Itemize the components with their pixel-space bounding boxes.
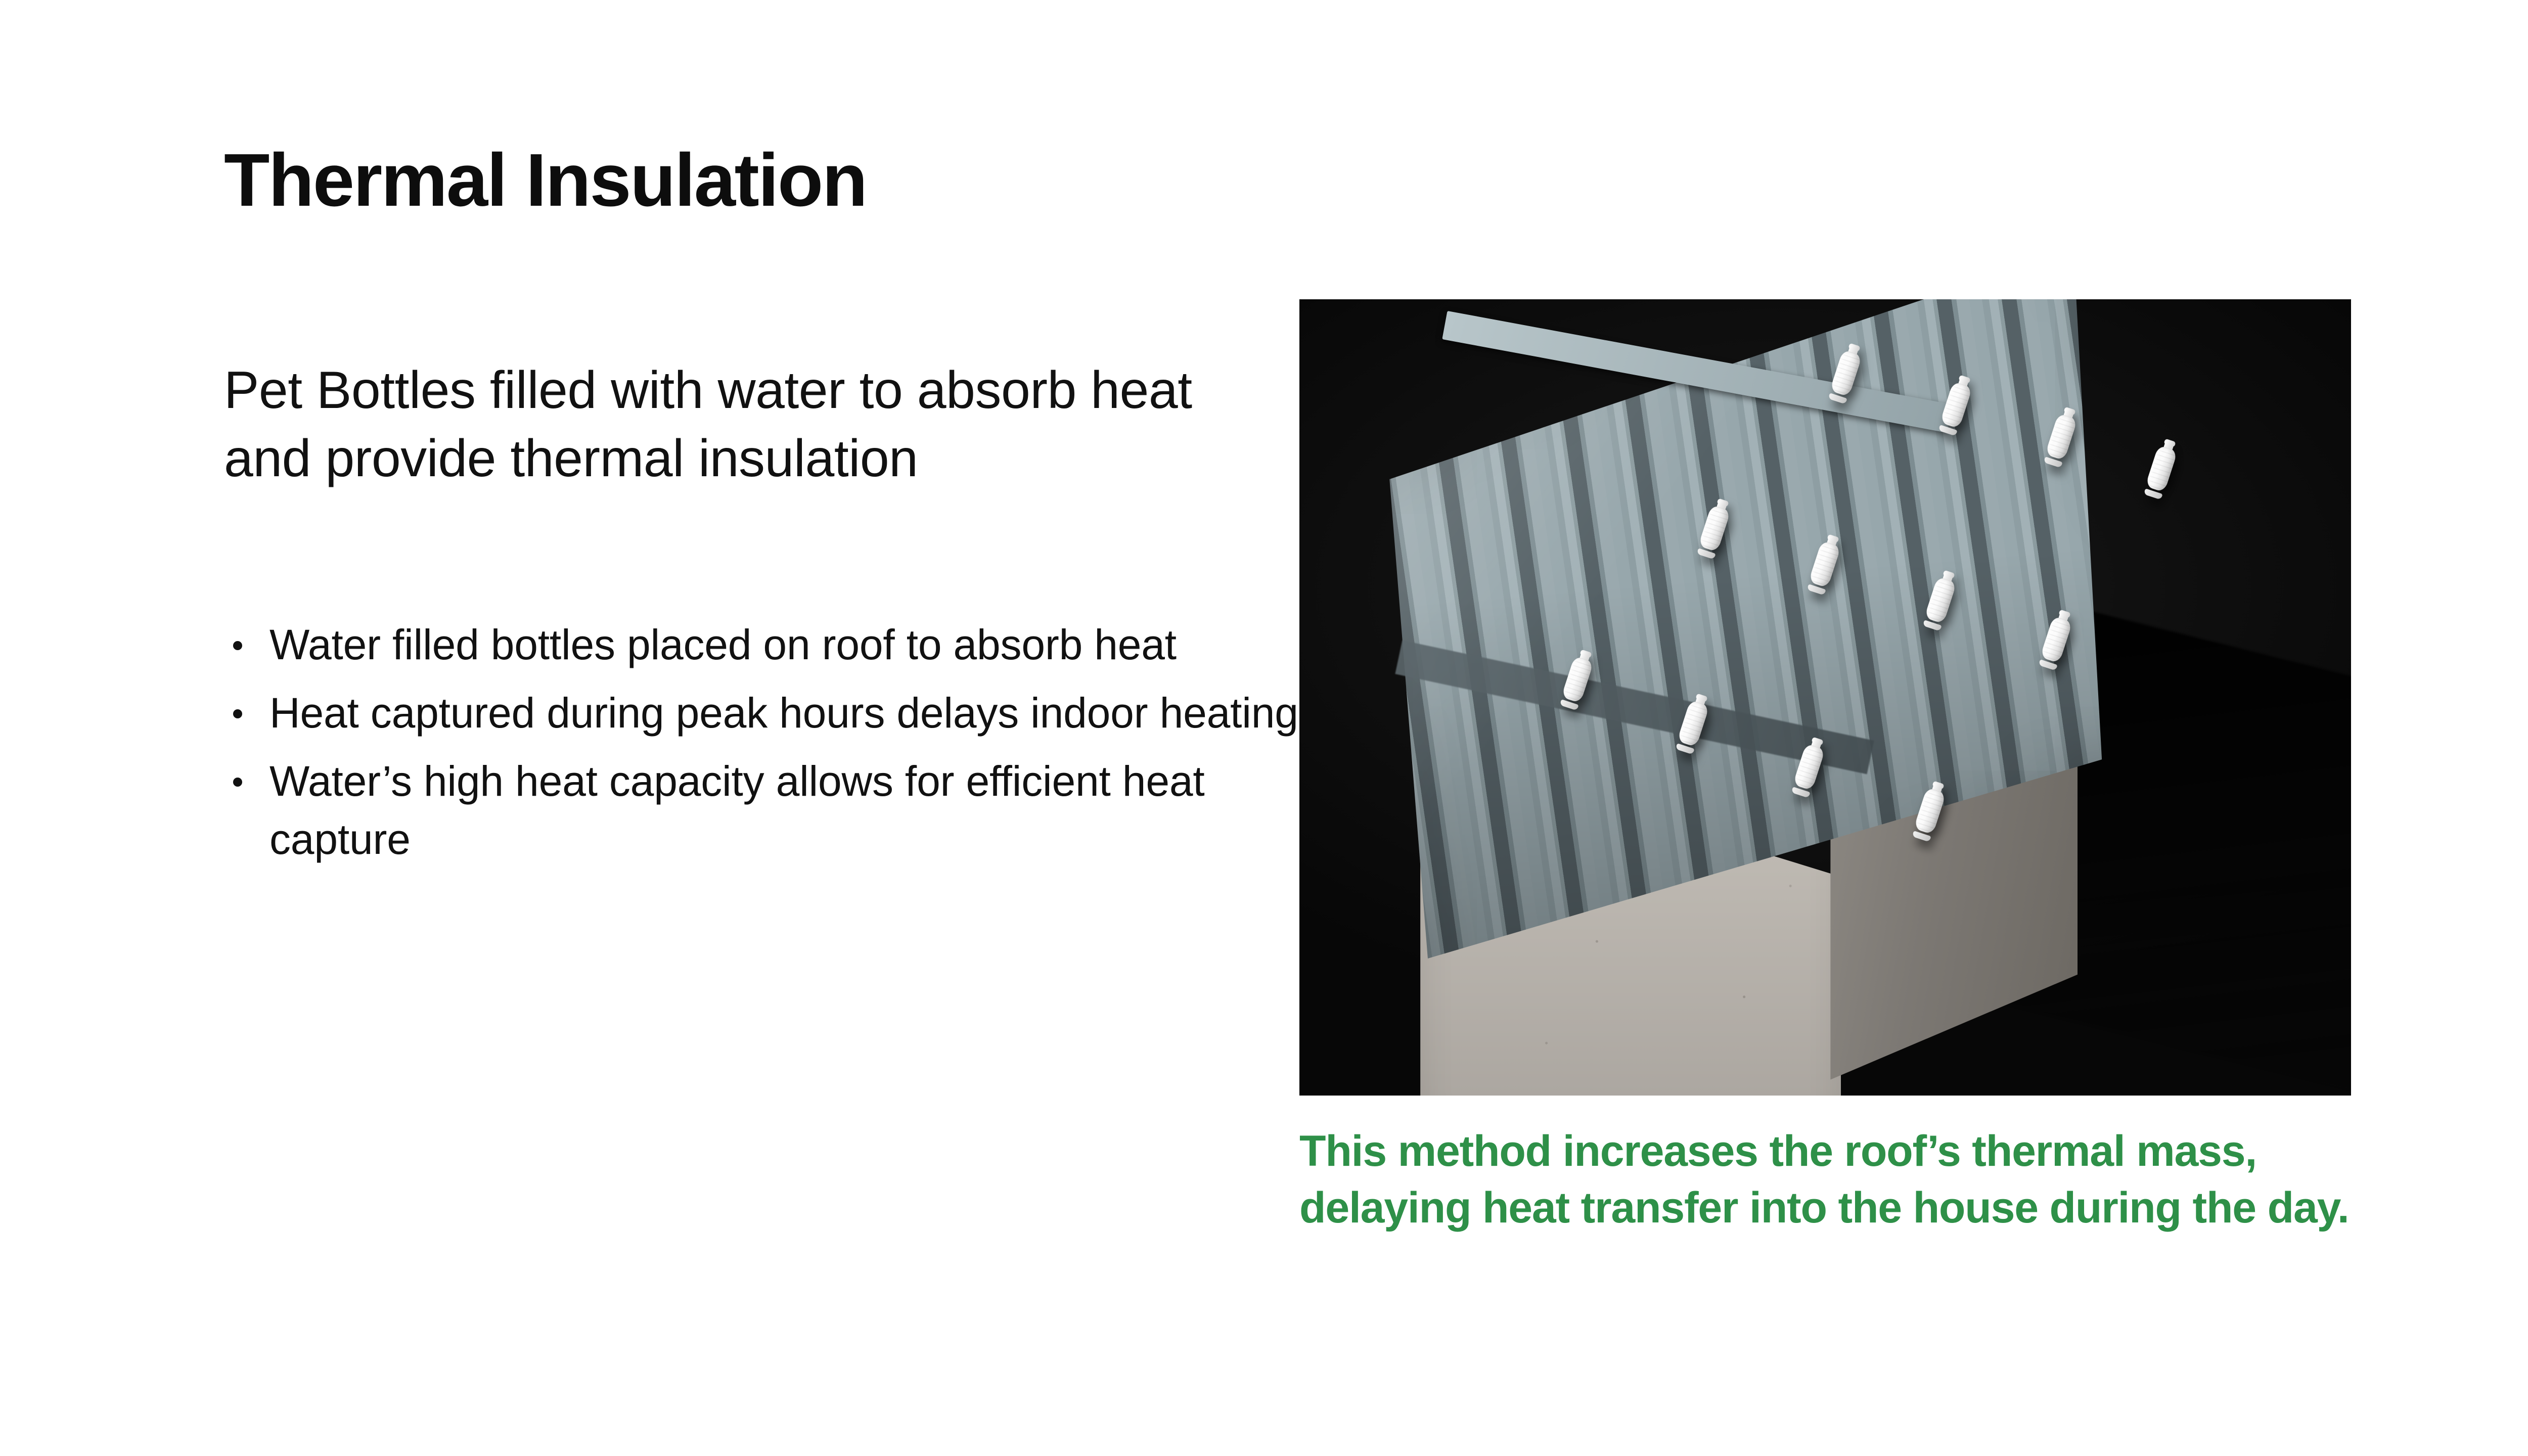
page-title: Thermal Insulation [224,143,867,218]
figure-caption: This method increases the roof’s thermal… [1299,1123,2402,1237]
slide-root: Thermal Insulation Pet Bottles filled wi… [0,0,2528,1456]
pet-bottle [2143,437,2181,500]
building-model [1299,299,2351,1096]
list-item: Water’s high heat capacity allows for ef… [224,752,1311,868]
list-item: Water filled bottles placed on roof to a… [224,616,1311,673]
bottle-body [2145,445,2178,492]
bullet-list: Water filled bottles placed on roof to a… [224,616,1311,879]
caption-line-2: delaying heat transfer into the house du… [1299,1180,2402,1237]
subtitle-text: Pet Bottles filled with water to absorb … [224,356,1215,493]
list-item: Heat captured during peak hours delays i… [224,684,1311,742]
figure-container [1299,299,2351,1096]
roof-assembly [1363,323,2141,896]
roof-bottles-render [1299,299,2351,1096]
caption-line-1: This method increases the roof’s thermal… [1299,1123,2402,1180]
